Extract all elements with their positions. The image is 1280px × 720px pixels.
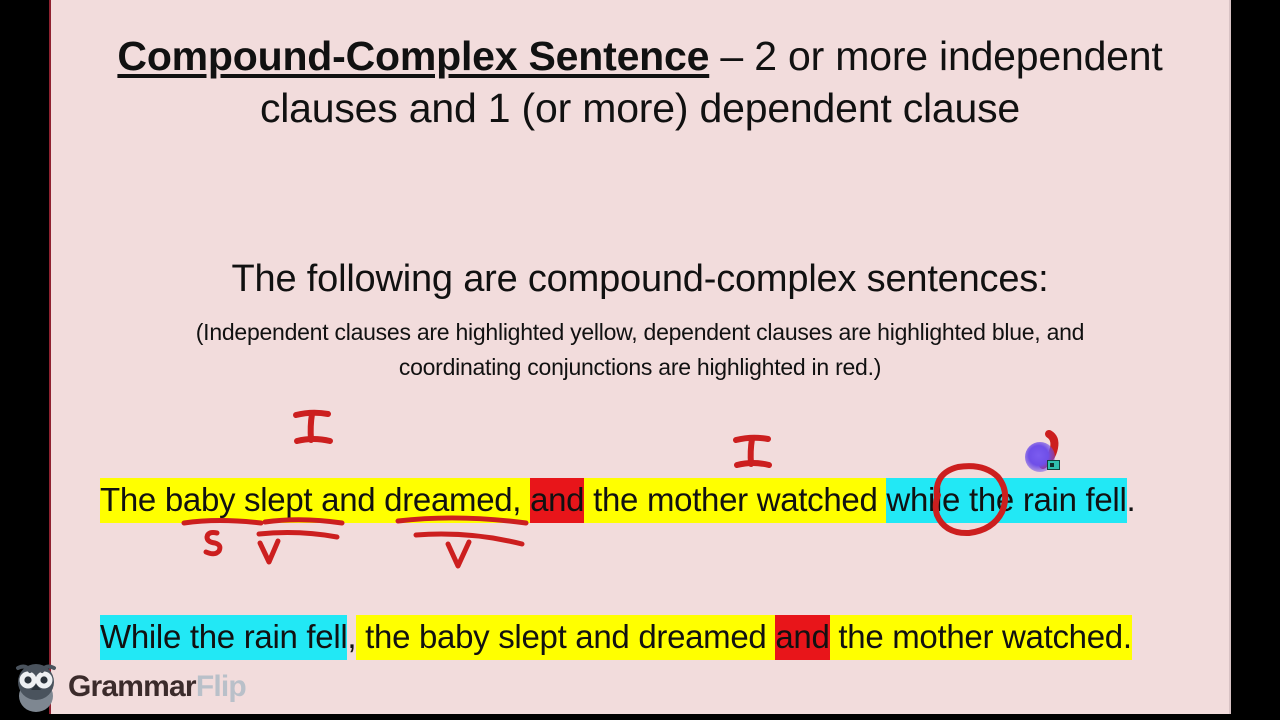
- pen-tool-badge-icon: [1047, 460, 1060, 470]
- coordinating-conjunction-2: and: [775, 615, 829, 660]
- grammarflip-logo[interactable]: GrammarFlip: [10, 661, 270, 713]
- legend-note: (Independent clauses are highlighted yel…: [50, 315, 1230, 385]
- legend-note-line-2: coordinating conjunctions are highlighte…: [399, 354, 881, 380]
- frame-left-edge: [49, 0, 51, 714]
- independent-clause-2a: the baby slept and dreamed: [356, 615, 775, 660]
- title-term: Compound-Complex Sentence: [117, 33, 709, 79]
- slide-canvas: Compound-Complex Sentence – 2 or more in…: [50, 0, 1230, 714]
- logo-name-primary: Grammar: [68, 670, 196, 703]
- verb-label-v-2: [448, 542, 469, 566]
- slide-title: Compound-Complex Sentence – 2 or more in…: [50, 30, 1230, 135]
- sentence-1-period: .: [1127, 478, 1136, 523]
- video-frame: Compound-Complex Sentence – 2 or more in…: [0, 0, 1280, 720]
- frame-bottom-edge: [0, 714, 1280, 720]
- logo-name-secondary: Flip: [196, 670, 246, 703]
- sentence-2-comma: ,: [347, 615, 356, 660]
- dependent-clause-1: while the rain fell: [886, 478, 1126, 523]
- independent-marker-2-icon: [736, 438, 769, 465]
- lead-text: The following are compound-complex sente…: [50, 258, 1230, 301]
- independent-clause-1a: The baby slept and dreamed,: [100, 478, 521, 523]
- pen-cursor[interactable]: [1025, 428, 1071, 474]
- frame-right-edge: [1229, 0, 1231, 714]
- example-sentence-2: While the rain fell, the baby slept and …: [100, 618, 1132, 656]
- independent-clause-1b: the mother watched: [584, 478, 886, 523]
- coordinating-conjunction-1: and: [530, 478, 584, 523]
- independent-clause-2b: the mother watched.: [830, 615, 1132, 660]
- owl-mascot-icon: [10, 662, 62, 712]
- independent-marker-1-icon: [296, 413, 330, 441]
- subject-label-s: [206, 533, 220, 554]
- dependent-clause-2: While the rain fell: [100, 615, 347, 660]
- logo-wordmark: GrammarFlip: [68, 670, 246, 704]
- spacer-1a: [521, 478, 530, 523]
- example-sentence-1: The baby slept and dreamed, and the moth…: [100, 481, 1135, 519]
- legend-note-line-1: (Independent clauses are highlighted yel…: [196, 319, 1084, 345]
- title-line-2: clauses and 1 (or more) dependent clause: [260, 85, 1020, 131]
- verb-label-v-1: [260, 541, 278, 562]
- title-definition: – 2 or more independent: [709, 33, 1162, 79]
